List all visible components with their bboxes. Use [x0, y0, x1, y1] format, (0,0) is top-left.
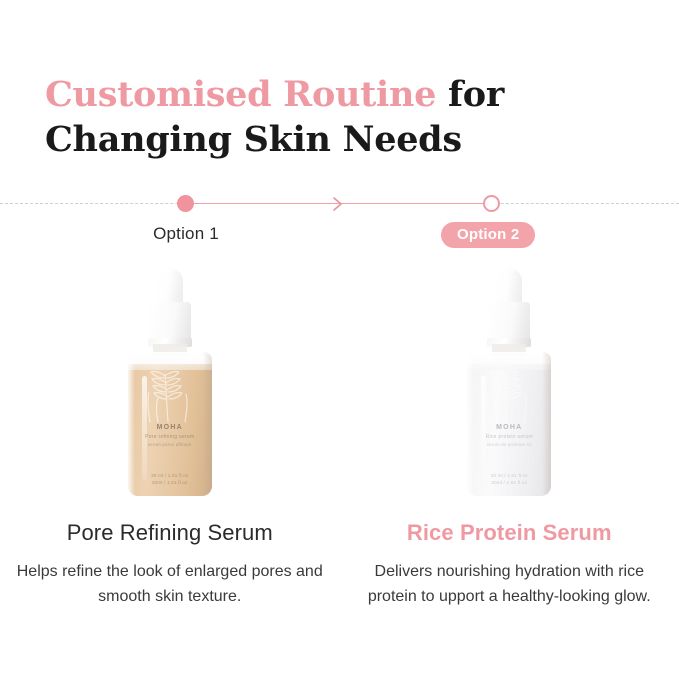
- bottle-body: MOHA Rice protein serum serum de protein…: [467, 352, 551, 496]
- option-1-label[interactable]: Option 1: [111, 224, 261, 244]
- product-title: Pore Refining Serum: [67, 520, 273, 546]
- bottle-volume-text: 30 ml / 1.01 fl.oz 30ml / 1.01 fl.oz: [467, 472, 551, 486]
- page-title-line-2: Changing Skin Needs: [45, 117, 645, 162]
- routine-timeline: [0, 196, 679, 212]
- option-2-badge[interactable]: Option 2: [441, 222, 535, 248]
- bottle-product-sub: serum de proteine riz: [467, 442, 551, 447]
- bottle-label-text: MOHA Pore refining serum serum pores aff…: [128, 424, 212, 447]
- page-title: Customised Routine for Changing Skin Nee…: [45, 72, 645, 162]
- bottle-product-sub: serum pores affinant: [128, 442, 212, 447]
- serum-bottle-milky: MOHA Rice protein serum serum de protein…: [461, 268, 557, 496]
- bottle-product-line: Pore refining serum: [128, 434, 212, 440]
- bottle-volume-alt: 30ml / 1.01 fl.oz: [128, 479, 212, 486]
- timeline-marker-option-2[interactable]: [483, 195, 500, 212]
- product-comparison-page: Customised Routine for Changing Skin Nee…: [0, 0, 679, 679]
- bottle-volume: 30 ml / 1.01 fl.oz: [128, 472, 212, 479]
- bottle-brand: MOHA: [467, 424, 551, 431]
- bottle-body: MOHA Pore refining serum serum pores aff…: [128, 352, 212, 496]
- chevron-right-icon: [330, 195, 346, 213]
- product-card-pore-refining-serum[interactable]: MOHA Pore refining serum serum pores aff…: [0, 268, 340, 609]
- bottle-product-line: Rice protein serum: [467, 434, 551, 440]
- bottle-volume-alt: 30ml / 1.01 fl.oz: [467, 479, 551, 486]
- product-columns: MOHA Pore refining serum serum pores aff…: [0, 268, 679, 609]
- rice-wheat-stalk-icon: [477, 366, 541, 424]
- bottle-label-text: MOHA Rice protein serum serum de protein…: [467, 424, 551, 447]
- page-title-accent: Customised Routine: [45, 74, 436, 115]
- product-description: Delivers nourishing hydration with rice …: [354, 559, 664, 609]
- product-card-rice-protein-serum[interactable]: MOHA Rice protein serum serum de protein…: [340, 268, 679, 609]
- timeline-marker-option-1[interactable]: [177, 195, 194, 212]
- page-title-rest: for: [436, 74, 504, 115]
- bottle-volume-text: 30 ml / 1.01 fl.oz 30ml / 1.01 fl.oz: [128, 472, 212, 486]
- page-title-line-1: Customised Routine for: [45, 72, 645, 117]
- product-description: Helps refine the look of enlarged pores …: [15, 559, 325, 609]
- bottle-volume: 30 ml / 1.01 fl.oz: [467, 472, 551, 479]
- rice-wheat-stalk-icon: [138, 366, 202, 424]
- product-title: Rice Protein Serum: [407, 520, 612, 546]
- serum-bottle-amber: MOHA Pore refining serum serum pores aff…: [122, 268, 218, 496]
- bottle-brand: MOHA: [128, 424, 212, 431]
